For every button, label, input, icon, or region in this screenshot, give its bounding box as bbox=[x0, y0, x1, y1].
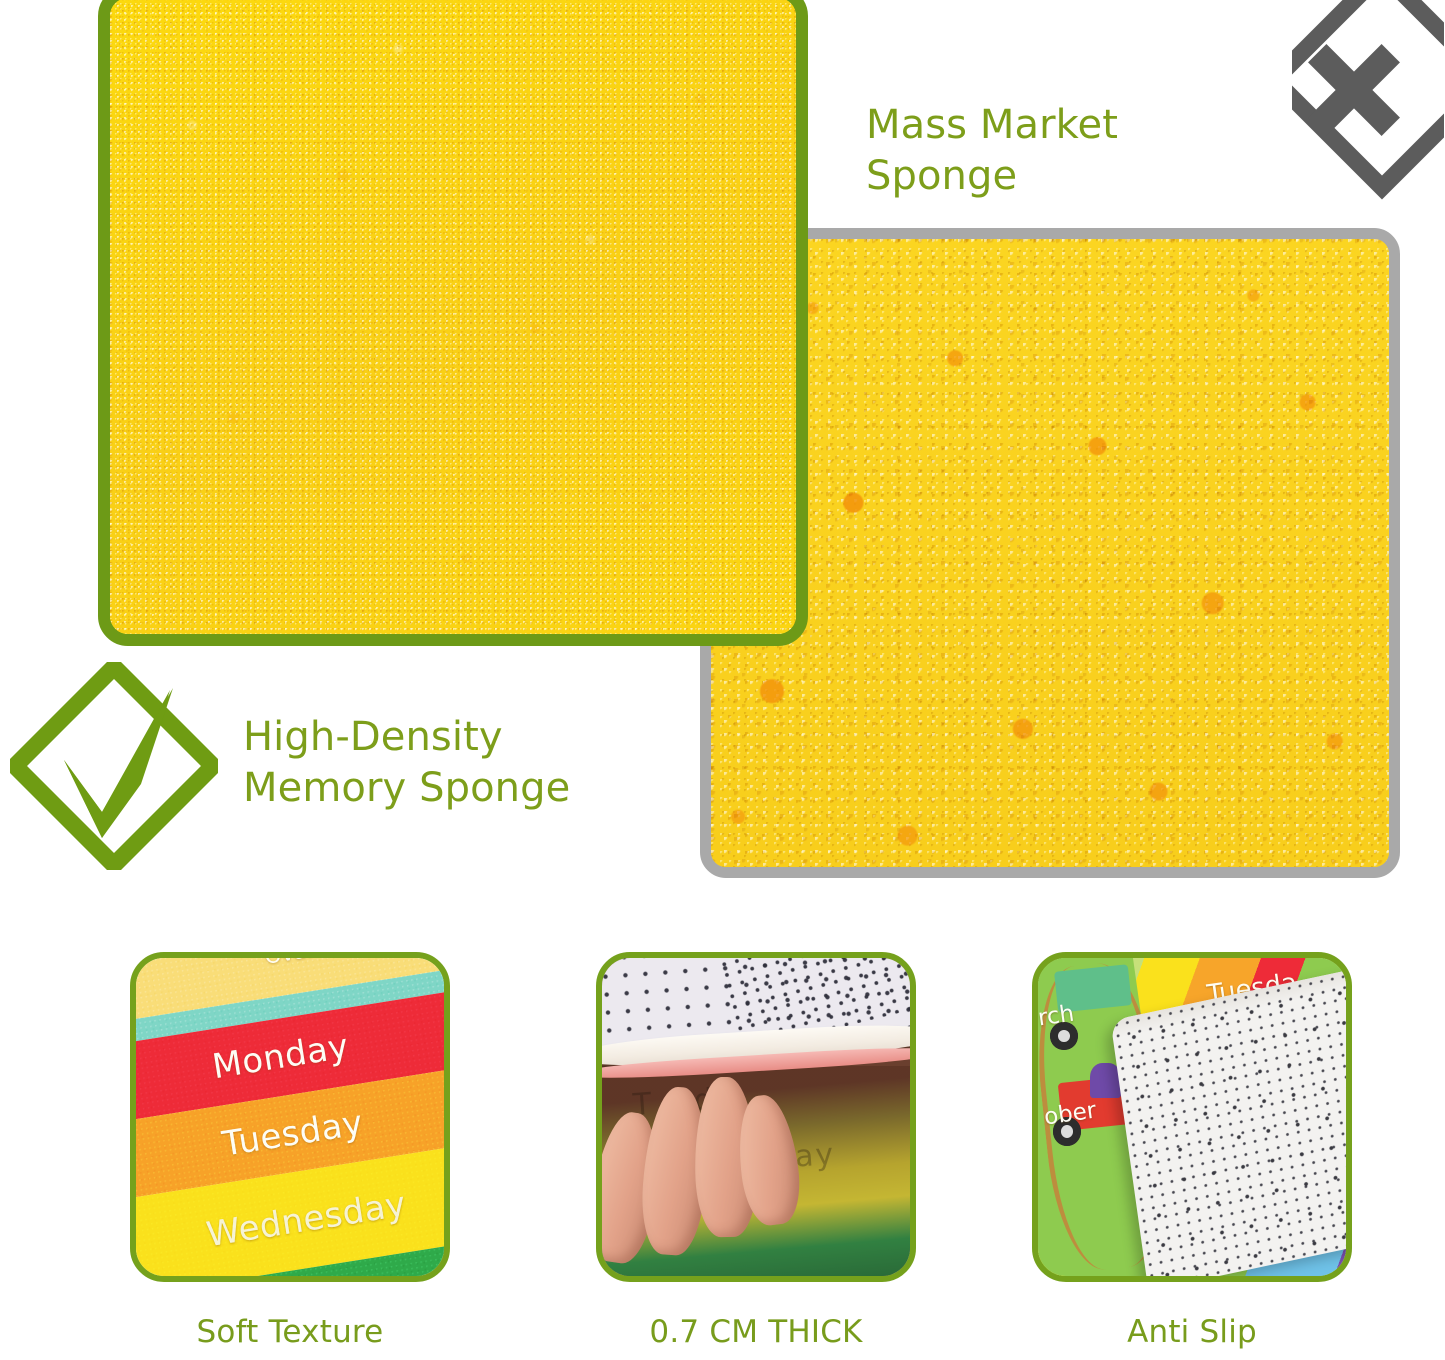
plush-texture-overlay bbox=[130, 952, 450, 1282]
check-diamond-icon bbox=[10, 662, 218, 870]
high-density-sponge-label: High-Density Memory Sponge bbox=[243, 712, 570, 814]
thickness-thumbnail[interactable]: T sd day bbox=[596, 952, 916, 1282]
sponge-texture-fine-highlights bbox=[110, 0, 796, 634]
antislip-dot-pattern bbox=[1111, 968, 1346, 1276]
high-density-sponge-image bbox=[98, 0, 808, 646]
feature-caption: 0.7 CM THICK bbox=[596, 1314, 916, 1350]
flipped-rug-photo: rch ober Tuesda W Sat bbox=[1038, 958, 1346, 1276]
infographic-canvas: Mass Market Sponge High-Density Memory S… bbox=[0, 0, 1445, 1360]
anti-slip-thumbnail[interactable]: rch ober Tuesda W Sat bbox=[1032, 952, 1352, 1282]
mass-market-sponge-label: Mass Market Sponge bbox=[866, 100, 1118, 202]
feature-thickness: T sd day 0.7 CM THICK bbox=[596, 952, 916, 1350]
hand-lifting-rug-photo: T sd day bbox=[602, 958, 910, 1276]
sponge-texture-coarse-overlay bbox=[711, 239, 1389, 867]
feature-caption: Soft Texture bbox=[130, 1314, 450, 1350]
soft-texture-thumbnail[interactable]: Monday Tuesday Wednesday Triangle Oval P… bbox=[130, 952, 450, 1282]
feature-soft-texture: Monday Tuesday Wednesday Triangle Oval P… bbox=[130, 952, 450, 1350]
hand bbox=[602, 1066, 818, 1276]
flipped-corner-antislip bbox=[1111, 968, 1346, 1276]
feature-caption: Anti Slip bbox=[1032, 1314, 1352, 1350]
x-diamond-icon bbox=[1292, 0, 1444, 210]
march-label: rch bbox=[1038, 1000, 1076, 1031]
feature-anti-slip: rch ober Tuesda W Sat Anti Slip bbox=[1032, 952, 1352, 1350]
feature-panels: Monday Tuesday Wednesday Triangle Oval P… bbox=[0, 952, 1445, 1360]
rug-stripes-photo: Monday Tuesday Wednesday Triangle Oval P… bbox=[130, 952, 450, 1282]
